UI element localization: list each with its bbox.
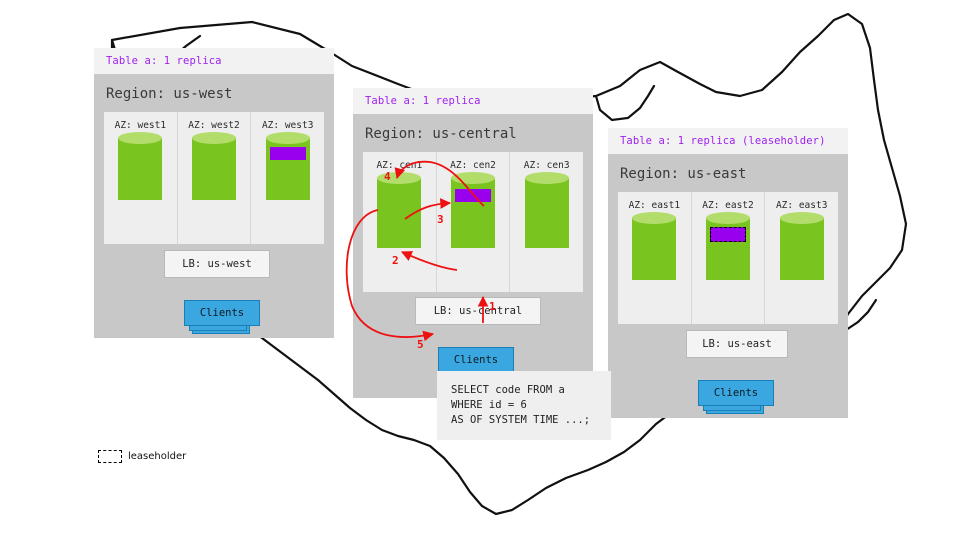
replica-header-us-west: Table a: 1 replica [94,48,334,74]
az-cell-cen1[interactable]: AZ: cen1 [363,152,437,292]
az-cell-west3[interactable]: AZ: west3 [251,112,324,244]
cylinder-body-icon [632,218,676,280]
cylinder-top-icon [706,212,750,224]
clients-us-east[interactable]: Clients [698,380,774,406]
database-cylinder-east3[interactable] [780,218,824,280]
region-panel-us-west: Table a: 1 replica Region: us-west AZ: w… [94,48,334,338]
region-title-us-east: Region: us-east [608,154,848,192]
load-balancer-us-east[interactable]: LB: us-east [686,330,788,358]
cylinder-top-icon [377,172,421,184]
region-panel-us-central: Table a: 1 replica Region: us-central AZ… [353,88,593,398]
database-cylinder-west3[interactable] [266,138,310,200]
az-row-us-east: AZ: east1 AZ: east2 [618,192,838,324]
az-cell-east2[interactable]: AZ: east2 [692,192,766,324]
clients-label-us-east[interactable]: Clients [698,380,774,406]
az-row-us-central: AZ: cen1 AZ: cen2 [363,152,583,292]
load-balancer-us-central[interactable]: LB: us-central [415,297,541,325]
az-cell-east3[interactable]: AZ: east3 [765,192,838,324]
replica-block-cen2[interactable] [455,189,491,202]
replica-header-us-central: Table a: 1 replica [353,88,593,114]
az-cell-east1[interactable]: AZ: east1 [618,192,692,324]
clients-label-us-central[interactable]: Clients [438,347,514,373]
az-label-east1: AZ: east1 [618,200,691,211]
cylinder-body-icon [192,138,236,200]
clients-us-central[interactable]: Clients [438,347,514,373]
az-label-east2: AZ: east2 [692,200,765,211]
clients-us-west[interactable]: Clients [184,300,260,326]
region-panel-us-east: Table a: 1 replica (leaseholder) Region:… [608,128,848,418]
az-cell-west2[interactable]: AZ: west2 [178,112,252,244]
diagram-stage: Table a: 1 replica Region: us-west AZ: w… [0,0,960,540]
region-title-us-central: Region: us-central [353,114,593,152]
az-label-cen3: AZ: cen3 [510,160,583,171]
legend-leaseholder: leaseholder [98,450,186,463]
cylinder-top-icon [118,132,162,144]
cylinder-body-icon [525,178,569,248]
az-label-west2: AZ: west2 [178,120,251,131]
cylinder-top-icon [632,212,676,224]
replica-block-west3[interactable] [270,147,306,160]
database-cylinder-cen2[interactable] [451,178,495,248]
cylinder-top-icon [525,172,569,184]
replica-block-east2-leaseholder[interactable] [710,227,746,242]
clients-label-us-west[interactable]: Clients [184,300,260,326]
cylinder-top-icon [780,212,824,224]
region-title-us-west: Region: us-west [94,74,334,112]
az-row-us-west: AZ: west1 AZ: west2 AZ [104,112,324,244]
database-cylinder-cen3[interactable] [525,178,569,248]
database-cylinder-west1[interactable] [118,138,162,200]
az-label-east3: AZ: east3 [765,200,838,211]
replica-header-us-east: Table a: 1 replica (leaseholder) [608,128,848,154]
cylinder-body-icon [118,138,162,200]
region-body-us-east: Region: us-east AZ: east1 AZ: east2 [608,154,848,418]
az-label-cen1: AZ: cen1 [363,160,436,171]
region-body-us-west: Region: us-west AZ: west1 AZ: west2 [94,74,334,338]
database-cylinder-cen1[interactable] [377,178,421,248]
cylinder-body-icon [377,178,421,248]
az-label-west1: AZ: west1 [104,120,177,131]
az-cell-cen2[interactable]: AZ: cen2 [437,152,511,292]
database-cylinder-west2[interactable] [192,138,236,200]
az-cell-cen3[interactable]: AZ: cen3 [510,152,583,292]
legend-label: leaseholder [128,451,186,462]
dashed-rect-icon [98,450,122,463]
cylinder-top-icon [451,172,495,184]
sql-query-box: SELECT code FROM a WHERE id = 6 AS OF SY… [437,371,611,440]
cylinder-top-icon [266,132,310,144]
cylinder-body-icon [780,218,824,280]
load-balancer-us-west[interactable]: LB: us-west [164,250,270,278]
database-cylinder-east2[interactable] [706,218,750,280]
cylinder-top-icon [192,132,236,144]
az-label-cen2: AZ: cen2 [437,160,510,171]
database-cylinder-east1[interactable] [632,218,676,280]
az-cell-west1[interactable]: AZ: west1 [104,112,178,244]
region-body-us-central: Region: us-central AZ: cen1 AZ: cen2 [353,114,593,398]
az-label-west3: AZ: west3 [251,120,324,131]
